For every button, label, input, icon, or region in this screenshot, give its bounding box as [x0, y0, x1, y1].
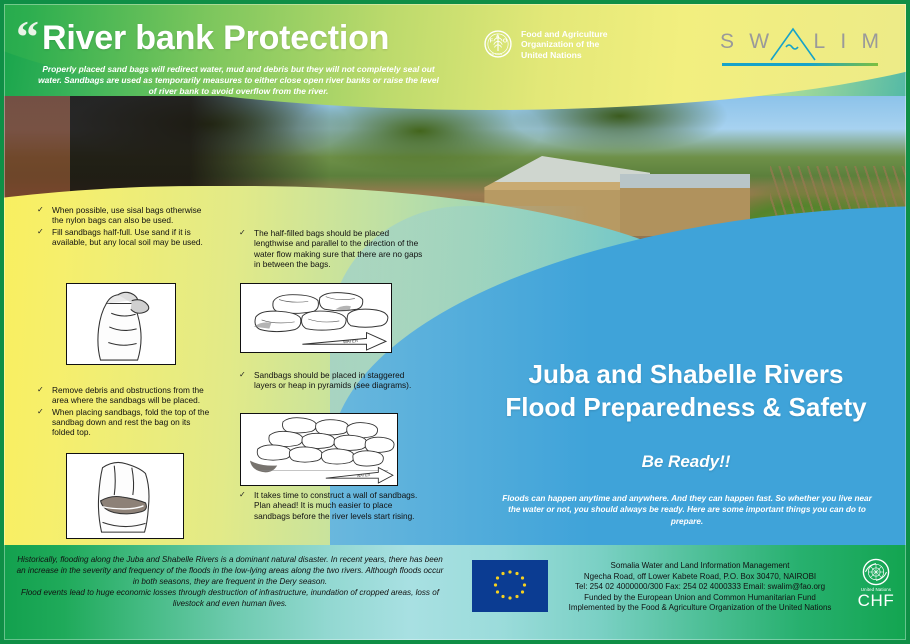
middle-column-group-1: The half-filled bags should be placed le… [236, 228, 426, 270]
swalim-letter-s: S [720, 30, 735, 54]
swalim-mountain-icon [768, 27, 818, 66]
fao-emblem-icon: F O A FIAT PANIS [484, 30, 512, 58]
chf-logo: United Nations CHF [850, 558, 902, 614]
checklist: It takes time to construct a wall of san… [236, 490, 426, 521]
page-title: River bank Protection [42, 19, 389, 58]
footer: Historically, flooding along the Juba an… [0, 545, 910, 644]
footer-left-text: Historically, flooding along the Juba an… [16, 554, 444, 609]
footer-paragraph-1: Historically, flooding along the Juba an… [16, 554, 444, 587]
footer-paragraph-2: Flood events lead to huge economic losse… [16, 587, 444, 609]
right-panel-title-line2: Flood Preparedness & Safety [462, 391, 910, 424]
svg-text:F: F [490, 39, 494, 45]
swalim-letter-m: M [861, 30, 880, 54]
sandbag-folded-top-diagram [66, 453, 184, 539]
right-panel-title: Juba and Shabelle Rivers Flood Preparedn… [462, 358, 910, 424]
united-nations-emblem-icon [862, 558, 890, 586]
checklist: When possible, use sisal bags otherwise … [34, 205, 214, 247]
middle-column-group-3: It takes time to construct a wall of san… [236, 490, 426, 522]
fao-text-line1: Food and Agriculture [521, 29, 608, 39]
sandbag-pyramid-diagram: WATER [240, 413, 398, 486]
right-panel-paragraph: Floods can happen anytime and anywhere. … [496, 493, 878, 527]
header-subtitle: Properly placed sand bags will redirect … [36, 64, 441, 97]
list-item: The half-filled bags should be placed le… [236, 228, 426, 269]
left-column-group-2: Remove debris and obstructions from the … [34, 385, 214, 438]
list-item: Sandbags should be placed in staggered l… [236, 370, 426, 391]
header: “ River bank Protection Properly placed … [0, 0, 910, 104]
sandbag-open-top-diagram [66, 283, 176, 365]
quote-mark-icon: “ [16, 22, 38, 52]
list-item: It takes time to construct a wall of san… [236, 490, 426, 521]
checklist: Sandbags should be placed in staggered l… [236, 370, 426, 391]
swalim-underline [722, 63, 878, 66]
svg-text:A: A [496, 34, 500, 40]
right-panel-title-line1: Juba and Shabelle Rivers [462, 358, 910, 391]
list-item: Fill sandbags half-full. Use sand if it … [34, 227, 214, 248]
fao-text-line2: Organization of the [521, 39, 608, 49]
list-item: Remove debris and obstructions from the … [34, 385, 214, 406]
swalim-letter-w: W [749, 30, 770, 54]
list-item: When possible, use sisal bags otherwise … [34, 205, 214, 226]
fao-text-line3: United Nations [521, 50, 608, 60]
fao-logo-text: Food and Agriculture Organization of the… [521, 28, 608, 60]
svg-text:O: O [503, 39, 508, 45]
poster-root: “ River bank Protection Properly placed … [0, 0, 910, 644]
list-item: When placing sandbags, fold the top of t… [34, 407, 214, 438]
left-column-group-1: When possible, use sisal bags otherwise … [34, 205, 214, 248]
sandbag-wall-water-flow-diagram: WATER [240, 283, 392, 353]
checklist: The half-filled bags should be placed le… [236, 228, 426, 269]
european-union-flag-icon [472, 560, 548, 612]
svg-text:FIAT PANIS: FIAT PANIS [490, 53, 503, 56]
fao-logo: F O A FIAT PANIS Food and Agriculture Or… [484, 28, 684, 76]
middle-column-group-2: Sandbags should be placed in staggered l… [236, 370, 426, 392]
swalim-logo: S W A L I M [720, 28, 880, 70]
chf-label: CHF [850, 592, 902, 610]
right-panel-tagline: Be Ready!! [462, 452, 910, 472]
swalim-letter-i: I [840, 30, 847, 54]
checklist: Remove debris and obstructions from the … [34, 385, 214, 437]
